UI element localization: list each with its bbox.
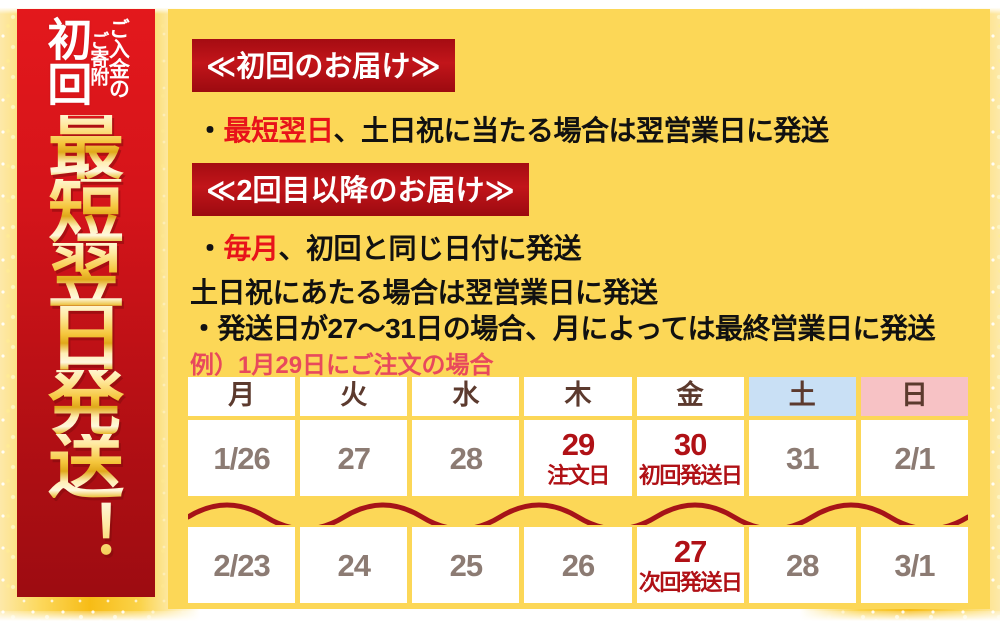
calendar-cell: 2/1 [861,420,968,496]
weekday-header-sunday-6: 日 [861,377,968,416]
banner-side-labels: ご入金の ご寄附 [88,15,128,98]
calendar-day-number: 2/1 [894,443,934,474]
subsequent-line-1: ・毎月、初回と同じ日付に発送 [196,227,581,267]
calendar-day-number: 27 [337,443,369,474]
calendar-day-number: 30 [674,429,706,460]
highlight-text: 毎月 [224,233,279,264]
banner-image: 初回 ご入金の ご寄附 最 短 翌 日 発 送 ！ ≪初回のお届け≫ ・最短翌日… [0,0,1000,621]
calendar-day-number: 29 [562,429,594,460]
calendar-day-number: 27 [674,536,706,567]
banner-top-heading: 初回 ご入金の ご寄附 [17,15,155,113]
calendar-cell: 30初回発送日 [637,420,744,496]
section-tag-first-delivery: ≪初回のお届け≫ [192,39,455,92]
subsequent-line-2: 土日祝にあたる場合は翌営業日に発送 [190,271,658,311]
calendar-day-number: 31 [786,443,818,474]
calendar-row-1: 1/26272829注文日30初回発送日312/1 [188,420,968,496]
line-rest: 、初回と同じ日付に発送 [279,233,582,264]
banner-shokai-label: 初回 [44,16,88,106]
banner-nyukin-label: ご入金の [107,18,128,98]
weekday-header-weekday-4: 金 [637,377,744,416]
bottom-white-fade [0,611,1000,621]
weekday-header-saturday-5: 土 [749,377,856,416]
calendar-day-number: 28 [786,550,818,581]
calendar-day-number: 2/23 [213,550,269,581]
calendar-day-number: 3/1 [894,550,934,581]
calendar-cell: 31 [749,420,856,496]
calendar-day-note: 注文日 [547,465,609,487]
banner-kifu-label: ご寄附 [88,31,107,85]
line-rest: 発送日が27〜31日の場合、月によっては最終営業日に発送 [218,313,936,344]
calendar-day-number: 28 [450,443,482,474]
left-red-banner: 初回 ご入金の ご寄附 最 短 翌 日 発 送 ！ [17,9,155,597]
calendar-day-number: 26 [562,550,594,581]
weekday-header-weekday-2: 水 [412,377,519,416]
bullet-mark: ・ [190,313,218,344]
calendar-cell: 25 [412,527,519,603]
calendar-cell: 27次回発送日 [637,527,744,603]
calendar-day-number: 1/26 [213,443,269,474]
calendar-cell: 3/1 [861,527,968,603]
example-note: 例）1月29日にご注文の場合 [190,345,494,380]
first-delivery-line: ・最短翌日、土日祝に当たる場合は翌営業日に発送 [196,109,829,149]
calendar-day-number: 25 [450,550,482,581]
weekday-header-weekday-3: 木 [524,377,631,416]
calendar-day-number: 24 [337,550,369,581]
bullet-mark: ・ [196,115,224,146]
calendar-weekday-header: 月火水木金土日 [188,377,968,416]
line-rest: 、土日祝に当たる場合は翌営業日に発送 [334,115,829,146]
calendar-cell: 24 [300,527,407,603]
calendar-cell: 27 [300,420,407,496]
calendar: 月火水木金土日 1/26272829注文日30初回発送日312/1 2/2324… [188,377,968,603]
weekday-header-weekday-0: 月 [188,377,295,416]
calendar-cell: 28 [412,420,519,496]
calendar-row-2: 2/2324252627次回発送日283/1 [188,527,968,603]
calendar-day-note: 次回発送日 [639,572,742,594]
section-tag-subsequent-delivery: ≪2回目以降のお届け≫ [192,163,529,216]
headline-exclamation: ！ [60,500,113,566]
weekday-header-weekday-1: 火 [300,377,407,416]
bullet-mark: ・ [196,233,224,264]
calendar-cell: 29注文日 [524,420,631,496]
calendar-cell: 1/26 [188,420,295,496]
headline-char-5: 送 [48,434,124,498]
highlight-text: 最短翌日 [224,115,334,146]
wavy-divider-icon [188,499,968,525]
subsequent-line-3: ・発送日が27〜31日の場合、月によっては最終営業日に発送 [190,307,935,347]
calendar-day-note: 初回発送日 [639,465,742,487]
calendar-cell: 28 [749,527,856,603]
calendar-cell: 26 [524,527,631,603]
content-panel: ≪初回のお届け≫ ・最短翌日、土日祝に当たる場合は翌営業日に発送 ≪2回目以降の… [168,9,990,609]
banner-headline: 最 短 翌 日 発 送 ！ [17,115,155,595]
calendar-cell: 2/23 [188,527,295,603]
